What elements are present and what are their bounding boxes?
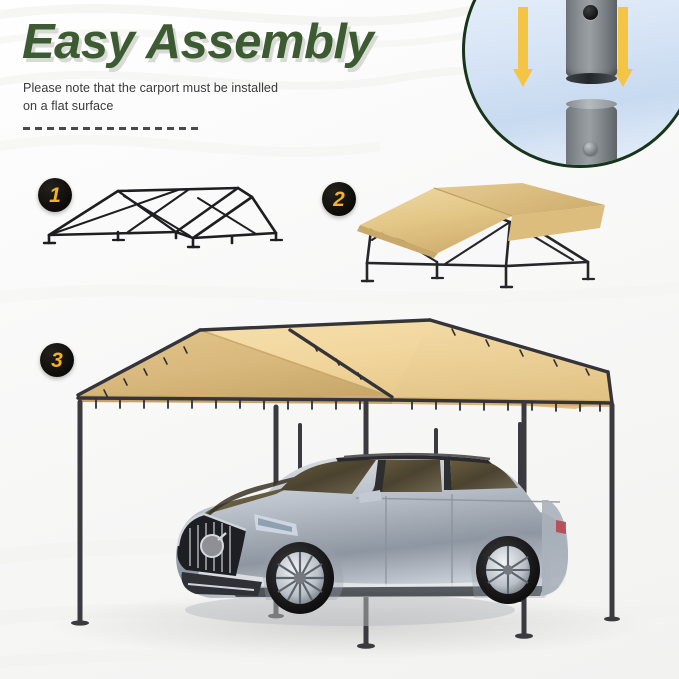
car-front-wheel (266, 542, 334, 614)
car-rear-wheel (476, 536, 540, 604)
step-3-illustration (50, 320, 650, 659)
infographic-page: Easy Assembly Please note that the carpo… (0, 0, 679, 679)
step-1-illustration (44, 188, 282, 247)
step-2-illustration (357, 183, 605, 287)
car-illustration (176, 454, 568, 626)
assembly-illustrations (0, 0, 679, 679)
